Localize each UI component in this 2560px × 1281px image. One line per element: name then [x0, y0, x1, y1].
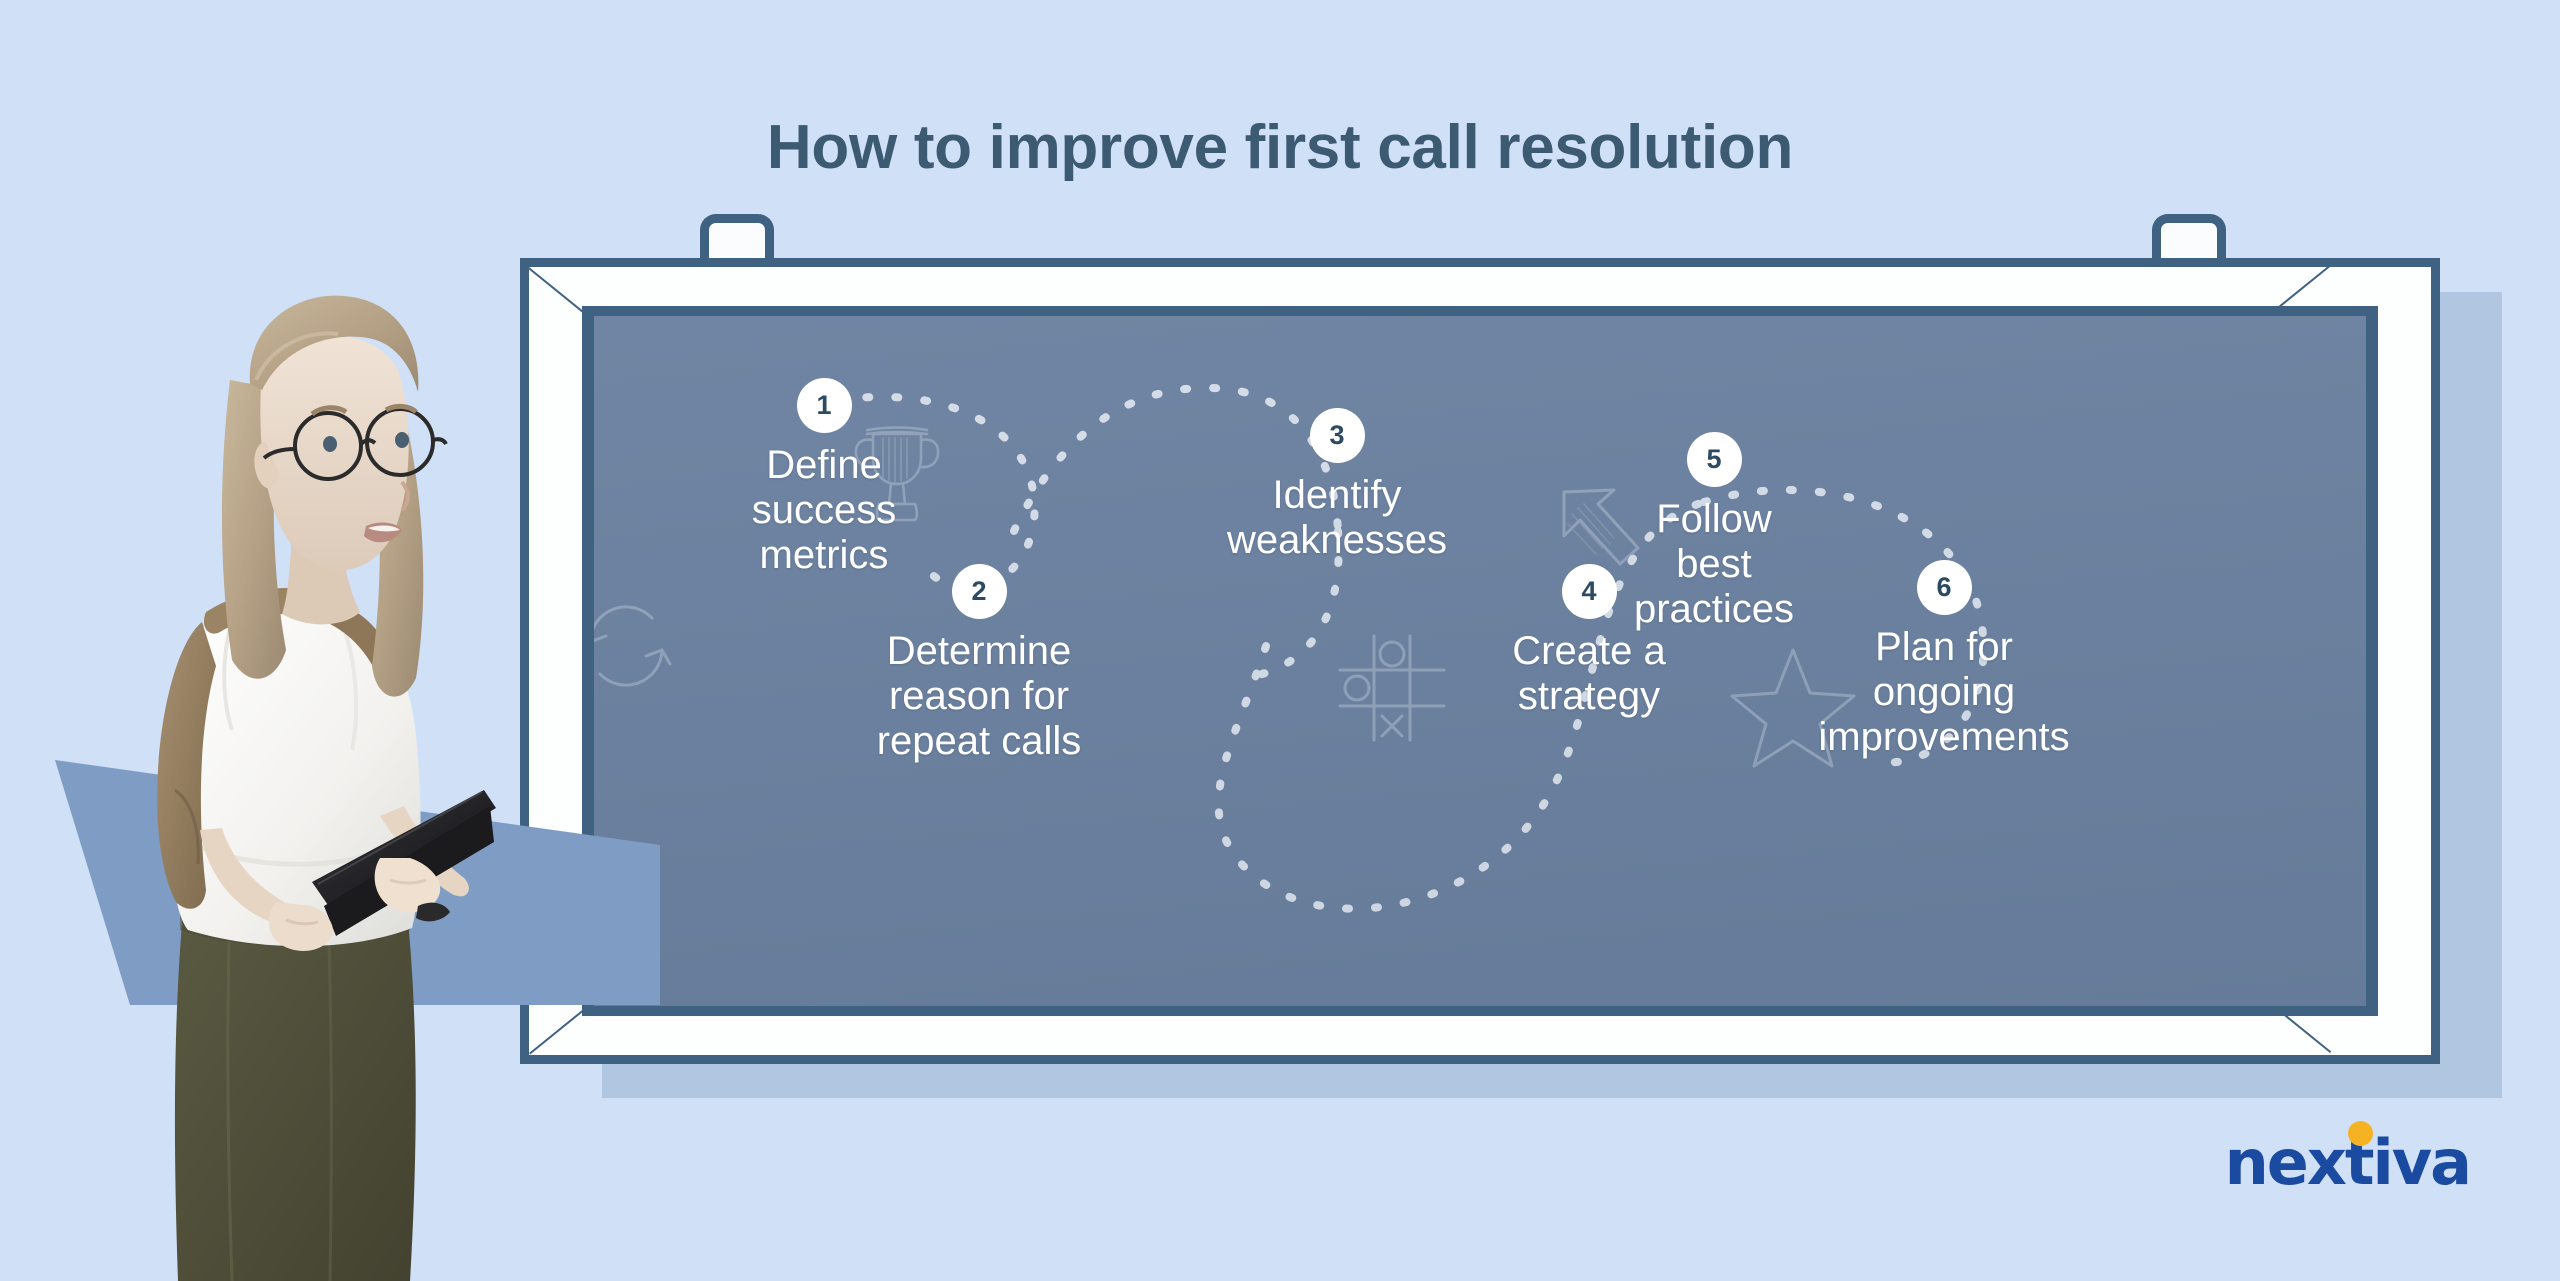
step-6[interactable]: 6 Plan for ongoing improvements	[1794, 560, 2094, 759]
step-6-badge: 6	[1917, 560, 1972, 615]
infographic-canvas: How to improve first call resolution	[0, 0, 2560, 1281]
step-2-label: Determine reason for repeat calls	[844, 629, 1114, 763]
step-4-label: Create a strategy	[1474, 629, 1704, 719]
step-3-label: Identify weaknesses	[1212, 473, 1462, 563]
step-5-badge: 5	[1687, 432, 1742, 487]
step-3[interactable]: 3 Identify weaknesses	[1212, 408, 1462, 563]
step-2[interactable]: 2 Determine reason for repeat calls	[844, 564, 1114, 763]
board-bezel: 1 Define success metrics 2 Determine rea…	[582, 306, 2378, 1016]
logo-wordmark: nextiva	[2225, 1126, 2470, 1199]
step-6-label: Plan for ongoing improvements	[1794, 625, 2094, 759]
board-surface: 1 Define success metrics 2 Determine rea…	[594, 316, 2366, 1006]
step-1-label: Define success metrics	[714, 443, 934, 577]
step-3-badge: 3	[1310, 408, 1365, 463]
step-1[interactable]: 1 Define success metrics	[714, 378, 934, 577]
step-5-label: Follow best practices	[1604, 497, 1824, 631]
step-1-badge: 1	[797, 378, 852, 433]
person-illustration	[80, 230, 660, 1281]
logo-dot-icon	[2348, 1121, 2373, 1146]
page-title: How to improve first call resolution	[0, 112, 2560, 183]
whiteboard: 1 Define success metrics 2 Determine rea…	[520, 258, 2440, 1064]
step-5[interactable]: 5 Follow best practices	[1604, 432, 1824, 631]
logo-text-label: nextiva	[2225, 1126, 2470, 1199]
nextiva-logo[interactable]: nextiva	[2225, 1126, 2470, 1199]
wristwatch	[416, 903, 450, 922]
step-2-badge: 2	[952, 564, 1007, 619]
